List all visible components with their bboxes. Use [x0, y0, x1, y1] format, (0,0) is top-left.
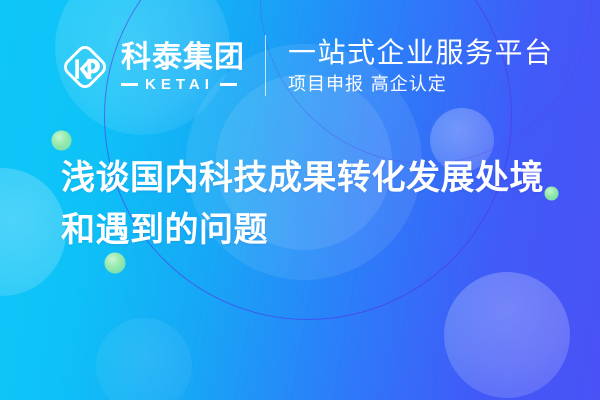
slogan-block: 一站式企业服务平台 项目申报 高企认定	[288, 36, 554, 96]
slogan-primary: 一站式企业服务平台	[288, 36, 554, 69]
brand-wordmark: 科泰集团 KETAI	[121, 42, 245, 91]
brand-name-cn: 科泰集团	[121, 42, 245, 73]
article-headline: 浅谈国内科技成果转化发展处境和遇到的问题	[61, 152, 561, 256]
decor-circle-left-edge	[0, 168, 66, 296]
wordmark-rule-right	[220, 83, 237, 86]
decor-circle-bottom-left	[96, 318, 192, 400]
banner-header: 科泰集团 KETAI 一站式企业服务平台 项目申报 高企认定	[0, 0, 600, 140]
promo-banner: 科泰集团 KETAI 一站式企业服务平台 项目申报 高企认定 浅谈国内科技成果转…	[0, 0, 600, 400]
decor-circle-bottom-right	[444, 272, 570, 398]
header-divider	[265, 35, 266, 96]
brand-name-en: KETAI	[138, 77, 220, 92]
wordmark-rule-left	[121, 83, 138, 86]
slogan-secondary: 项目申报 高企认定	[288, 73, 554, 96]
brand-name-en-row: KETAI	[121, 77, 245, 92]
kp-monogram-diamond-icon	[58, 40, 112, 94]
brand-logo[interactable]: 科泰集团 KETAI	[58, 40, 245, 94]
